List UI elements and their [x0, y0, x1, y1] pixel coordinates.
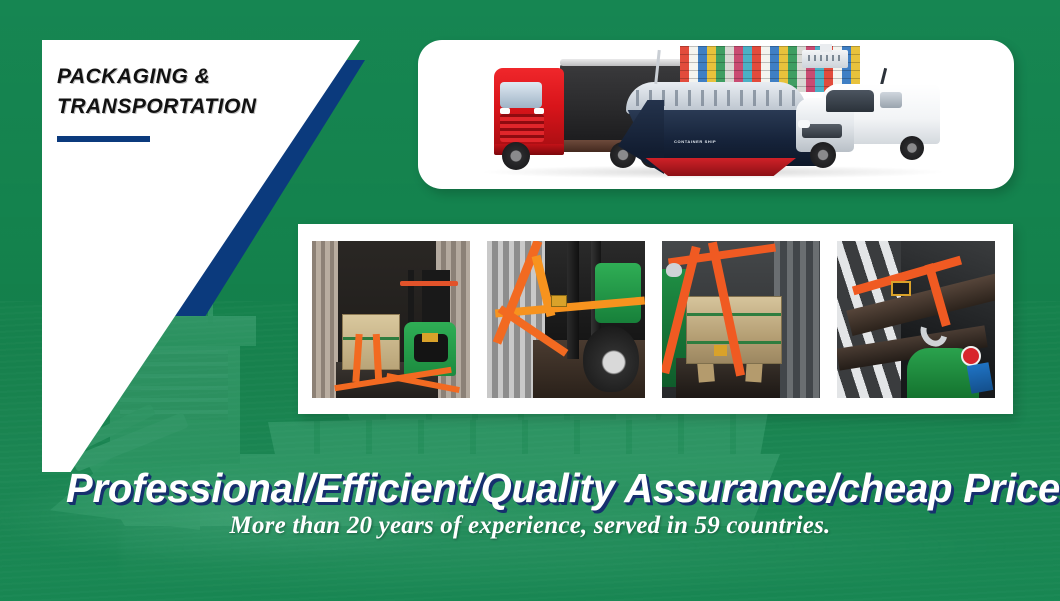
- gallery-photo-3[interactable]: [662, 241, 820, 398]
- lashing-strap: [668, 243, 776, 266]
- dunnage-block: [697, 361, 715, 382]
- dunnage-block: [745, 361, 762, 382]
- footer-subheadline: More than 20 years of experience, served…: [0, 512, 1060, 540]
- truck-windshield: [500, 82, 542, 108]
- van-rear-wheel: [900, 136, 924, 160]
- red-warning-sticker: [961, 346, 981, 366]
- forklift-mast-rail: [567, 241, 579, 359]
- ship-antifouling-stripe: [636, 158, 796, 176]
- title-underline: [57, 136, 150, 142]
- truck-grille: [500, 114, 544, 142]
- transport-modes-card: CONTAINER SHIP: [418, 40, 1014, 189]
- ship-funnel: [820, 44, 832, 52]
- van-headlight: [798, 120, 810, 128]
- blue-label-tag: [967, 362, 994, 393]
- packing-photo-gallery: [298, 224, 1013, 414]
- van-front-wheel: [810, 142, 836, 168]
- ship-hull-name: CONTAINER SHIP: [674, 139, 716, 144]
- forklift-body: [595, 263, 641, 323]
- gallery-photo-2[interactable]: [487, 241, 645, 398]
- van-side-window: [880, 92, 902, 108]
- gallery-photo-1[interactable]: [312, 241, 470, 398]
- container-floor: [676, 358, 780, 398]
- ship-mast: [654, 50, 661, 84]
- van-windshield: [826, 90, 874, 112]
- ship-bridge: [802, 50, 848, 68]
- truck-headlight-left: [500, 108, 510, 114]
- forklift-overhead-guard: [400, 281, 458, 286]
- gallery-photo-4[interactable]: [837, 241, 995, 398]
- page-title: PACKAGING & TRANSPORTATION: [57, 62, 307, 122]
- truck-headlight-right: [534, 108, 544, 114]
- container-wall-left: [312, 241, 338, 398]
- footer-headline: Professional/Efficient/Quality Assurance…: [66, 465, 1002, 512]
- truck-front-wheel: [502, 142, 530, 170]
- ratchet-buckle: [891, 281, 911, 296]
- steel-hook: [666, 263, 682, 277]
- wooden-crate: [342, 314, 400, 370]
- forklift-badge: [422, 333, 438, 342]
- packaging-transportation-banner: PACKAGING & TRANSPORTATION CO: [0, 0, 1060, 601]
- delivery-van-illustration: [796, 84, 946, 172]
- forklift-mast: [408, 270, 450, 326]
- forklift-tyre: [583, 326, 639, 392]
- ratchet-buckle: [551, 295, 567, 307]
- ratchet-buckle: [714, 345, 727, 356]
